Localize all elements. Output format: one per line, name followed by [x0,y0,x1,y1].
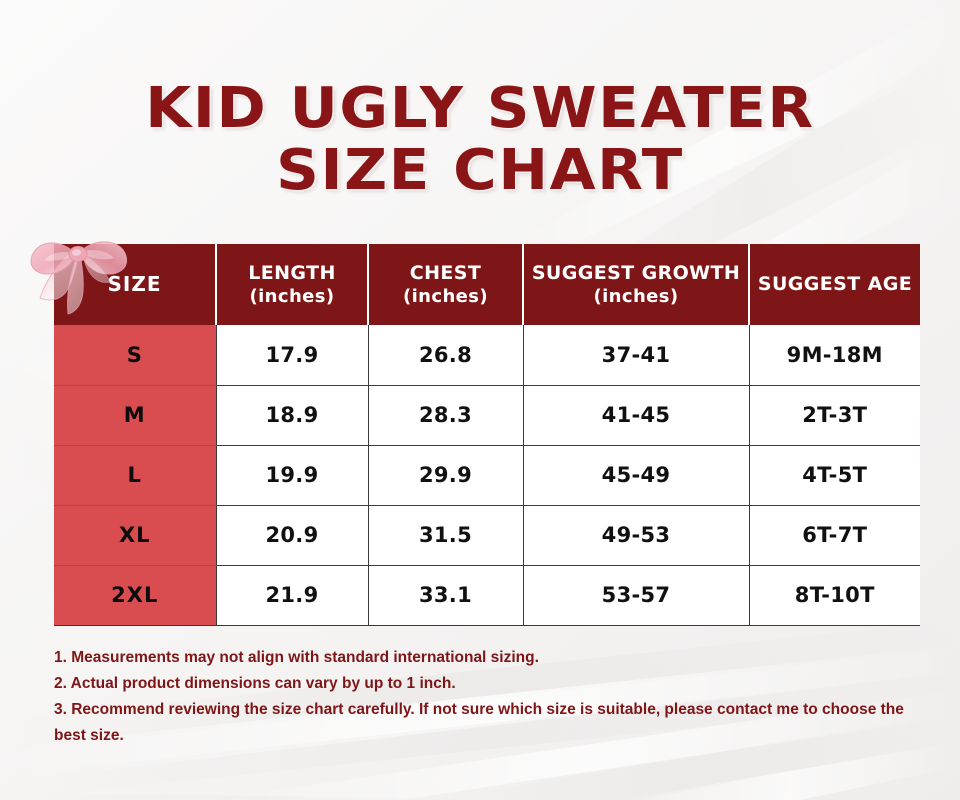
column-header-growth-label: SUGGEST GROWTH [532,262,740,284]
cell-chest: 28.3 [368,385,523,445]
size-chart-table: SIZE LENGTH (inches) CHEST (inches) SUGG… [54,244,920,626]
footer-notes: 1. Measurements may not align with stand… [54,645,924,749]
column-header-chest-label: CHEST [410,262,481,284]
column-header-size-label: SIZE [107,272,161,296]
cell-growth: 53-57 [523,565,749,625]
column-header-age-label: SUGGEST AGE [758,273,912,295]
table-row: M 18.9 28.3 41-45 2T-3T [54,385,920,445]
column-header-length: LENGTH (inches) [216,244,368,325]
table-row: 2XL 21.9 33.1 53-57 8T-10T [54,565,920,625]
cell-size: XL [54,505,216,565]
cell-length: 20.9 [216,505,368,565]
note-line-2: 2. Actual product dimensions can vary by… [54,671,924,697]
table-header-row: SIZE LENGTH (inches) CHEST (inches) SUGG… [54,244,920,325]
cell-growth: 49-53 [523,505,749,565]
cell-growth: 37-41 [523,325,749,385]
column-header-growth: SUGGEST GROWTH (inches) [523,244,749,325]
page-title: KID UGLY SWEATER SIZE CHART [0,78,960,202]
column-header-size: SIZE [54,244,216,325]
table-row: L 19.9 29.9 45-49 4T-5T [54,445,920,505]
table-row: S 17.9 26.8 37-41 9M-18M [54,325,920,385]
cell-chest: 26.8 [368,325,523,385]
cell-age: 4T-5T [749,445,920,505]
cell-length: 17.9 [216,325,368,385]
title-line-1: KID UGLY SWEATER [0,78,960,140]
table-header: SIZE LENGTH (inches) CHEST (inches) SUGG… [54,244,920,325]
table-row: XL 20.9 31.5 49-53 6T-7T [54,505,920,565]
cell-growth: 45-49 [523,445,749,505]
column-header-length-unit: (inches) [217,285,367,308]
cell-size: 2XL [54,565,216,625]
cell-age: 2T-3T [749,385,920,445]
cell-size: L [54,445,216,505]
note-line-3: 3. Recommend reviewing the size chart ca… [54,697,924,749]
title-line-2: SIZE CHART [0,140,960,202]
cell-age: 8T-10T [749,565,920,625]
cell-length: 18.9 [216,385,368,445]
note-line-1: 1. Measurements may not align with stand… [54,645,924,671]
column-header-chest: CHEST (inches) [368,244,523,325]
cell-growth: 41-45 [523,385,749,445]
cell-age: 6T-7T [749,505,920,565]
cell-length: 19.9 [216,445,368,505]
column-header-growth-unit: (inches) [524,285,748,308]
cell-size: M [54,385,216,445]
cell-chest: 29.9 [368,445,523,505]
table-body: S 17.9 26.8 37-41 9M-18M M 18.9 28.3 41-… [54,325,920,625]
cell-chest: 31.5 [368,505,523,565]
cell-length: 21.9 [216,565,368,625]
column-header-chest-unit: (inches) [369,285,522,308]
column-header-length-label: LENGTH [248,262,336,284]
cell-size: S [54,325,216,385]
cell-age: 9M-18M [749,325,920,385]
column-header-age: SUGGEST AGE [749,244,920,325]
cell-chest: 33.1 [368,565,523,625]
